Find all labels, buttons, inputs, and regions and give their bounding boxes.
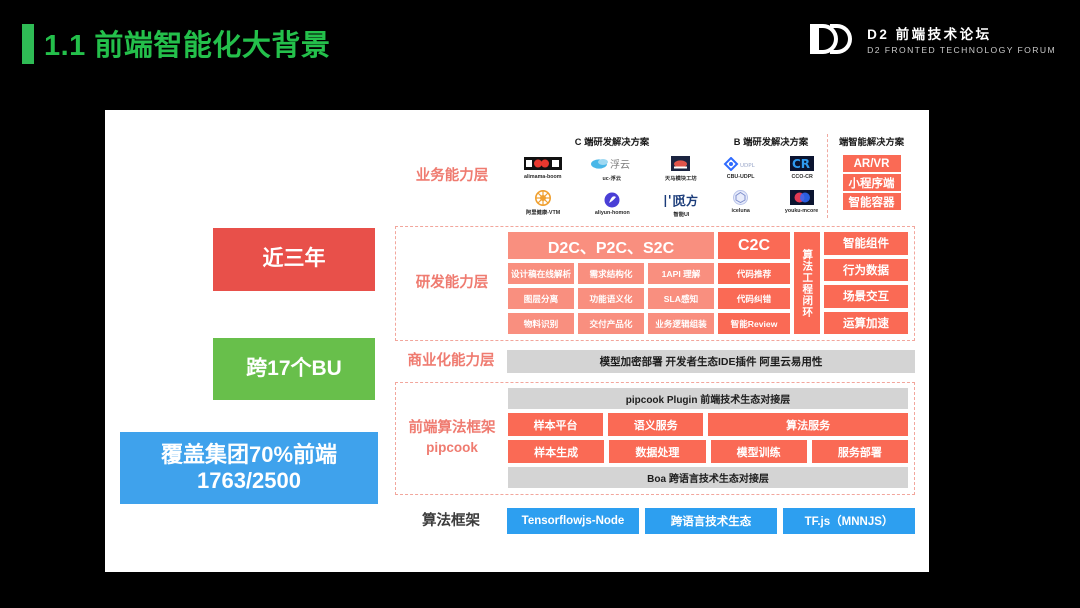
alihealth-vtm-icon <box>535 189 551 206</box>
pipcook-cell[interactable]: 样本生成 <box>508 440 604 463</box>
rd-cell[interactable]: 功能语义化 <box>578 288 644 309</box>
pipcook-cell[interactable]: 模型训练 <box>711 440 807 463</box>
tianma-module-icon <box>671 155 690 172</box>
stat-box-coverage: 覆盖集团70%前端 1763/2500 <box>120 432 378 504</box>
logo-title-cn: D2 前端技术论坛 <box>867 23 1056 43</box>
product-alihealth-vtm[interactable]: 阿里健康-VTM <box>525 189 561 216</box>
smart-ui-icon: |'|觅方 <box>663 191 699 208</box>
pipcook-cell[interactable]: 语义服务 <box>608 413 703 436</box>
rd-cell[interactable]: 交付产品化 <box>578 313 644 334</box>
svg-text:浮云: 浮云 <box>610 159 630 171</box>
rd-cell[interactable]: 业务逻辑组装 <box>648 313 714 334</box>
product-youku-mcore[interactable]: youku-mcore <box>784 189 819 214</box>
rd-cell[interactable]: SLA感知 <box>648 288 714 309</box>
algorithm-cell[interactable]: 跨语言技术生态 <box>645 508 777 534</box>
pipcook-layer: 前端算法框架 pipcook pipcook Plugin 前端技术生态对接层 … <box>395 382 915 495</box>
algorithm-layer-label: 算法框架 <box>422 512 480 530</box>
product-iceluna[interactable]: iceluna <box>731 189 750 214</box>
business-capability-layer: 业务能力层 C 端研发解决方案 alimama-boom <box>395 128 915 224</box>
rd-cell[interactable]: 物料识别 <box>508 313 574 334</box>
algorithm-loop-label: 算法工程闭环 <box>794 232 820 334</box>
algorithm-cell[interactable]: TF.js（MNNJS） <box>783 508 915 534</box>
rd-banner-d2c[interactable]: D2C、P2C、S2C <box>508 232 714 259</box>
c-end-heading: C 端研发解决方案 <box>509 134 715 148</box>
youku-mcore-caption: youku-mcore <box>785 208 818 214</box>
b-end-column: B 端研发解决方案 UDPL CBU-UDPL <box>715 134 827 218</box>
uc-fuyun-icon: 浮云 <box>590 155 634 172</box>
tianma-module-caption: 天马模块工坊 <box>665 174 697 182</box>
pipcook-cell[interactable]: 算法服务 <box>708 413 908 436</box>
product-cbu-udpl[interactable]: UDPL CBU-UDPL <box>723 155 757 180</box>
edge-capability-cell[interactable]: 行为数据 <box>824 259 908 282</box>
alimama-boom-icon <box>524 155 562 172</box>
stat-box-bu: 跨17个BU <box>213 338 375 400</box>
smart-ui-caption: 智能UI <box>673 210 689 218</box>
cco-cr-icon: CR <box>790 155 814 172</box>
logo-cell: 浮云 uc-浮云 aliyun-homon <box>583 155 641 218</box>
edge-badge-arvr[interactable]: AR/VR <box>843 155 901 172</box>
edge-intelligence-column: 端智能解决方案 AR/VR 小程序端 智能容器 <box>827 134 915 218</box>
commercial-layer-label: 商业化能力层 <box>408 352 495 370</box>
pipcook-cell[interactable]: 样本平台 <box>508 413 603 436</box>
product-tianma-module[interactable]: 天马模块工坊 <box>664 155 698 182</box>
alihealth-vtm-caption: 阿里健康-VTM <box>526 208 560 216</box>
logo-cell: alimama-boom 阿里健康-VTM <box>514 155 572 218</box>
svg-text:觅方: 觅方 <box>674 193 698 207</box>
product-aliyun-homon[interactable]: aliyun-homon <box>594 191 631 216</box>
c-end-column: C 端研发解决方案 alimama-boom <box>509 134 715 218</box>
rd-cell[interactable]: 图层分离 <box>508 288 574 309</box>
edge-badge-miniprogram[interactable]: 小程序端 <box>843 174 901 191</box>
edge-capability-cell[interactable]: 场景交互 <box>824 285 908 308</box>
b-end-heading: B 端研发解决方案 <box>715 134 827 148</box>
rd-layer-label: 研发能力层 <box>416 274 489 292</box>
cbu-udpl-caption: CBU-UDPL <box>726 174 754 180</box>
stat-coverage-line1: 覆盖集团70%前端 <box>161 442 337 468</box>
pipcook-cell[interactable]: 数据处理 <box>609 440 705 463</box>
product-alimama-boom[interactable]: alimama-boom <box>523 155 562 180</box>
product-cco-cr[interactable]: CR CCO-CR <box>790 155 814 180</box>
rd-capability-layer: 研发能力层 D2C、P2C、S2C C2C 设计稿在线解析 图层分离 物料识别 <box>395 226 915 341</box>
rd-cell[interactable]: 设计稿在线解析 <box>508 263 574 284</box>
algorithm-framework-layer: 算法框架 Tensorflowjs-Node 跨语言技术生态 TF.js（MNN… <box>395 507 915 535</box>
pipcook-plugin-bar[interactable]: pipcook Plugin 前端技术生态对接层 <box>508 388 908 409</box>
alimama-boom-caption: alimama-boom <box>524 174 562 180</box>
stat-coverage-line2: 1763/2500 <box>161 468 337 494</box>
logo-cell: CR CCO-CR youku-mcore <box>777 155 828 214</box>
architecture-diagram: 业务能力层 C 端研发解决方案 alimama-boom <box>395 128 915 535</box>
c2c-cell[interactable]: 智能Review <box>718 313 790 334</box>
title-accent-bar <box>22 24 34 64</box>
cbu-udpl-icon: UDPL <box>723 155 757 172</box>
edge-capability-cell[interactable]: 运算加速 <box>824 312 908 335</box>
algorithm-cell[interactable]: Tensorflowjs-Node <box>507 508 639 534</box>
pipcook-cell[interactable]: 服务部署 <box>812 440 908 463</box>
product-smart-ui[interactable]: |'|觅方 智能UI <box>663 191 699 218</box>
rd-banner-c2c[interactable]: C2C <box>718 232 790 259</box>
iceluna-icon <box>733 189 748 206</box>
logo-cell: UDPL CBU-UDPL iceluna <box>715 155 766 214</box>
edge-badge-container[interactable]: 智能容器 <box>843 193 901 210</box>
c2c-cell[interactable]: 代码推荐 <box>718 263 790 284</box>
pipcook-name-label: pipcook <box>426 440 478 457</box>
page-title: 1.1 前端智能化大背景 <box>44 22 330 64</box>
business-layer-label: 业务能力层 <box>416 167 489 185</box>
c2c-cell[interactable]: 代码纠错 <box>718 288 790 309</box>
edge-capability-cell[interactable]: 智能组件 <box>824 232 908 255</box>
cco-cr-caption: CCO-CR <box>791 174 812 180</box>
rd-cell[interactable]: 1API 理解 <box>648 263 714 284</box>
brand-logo: D2 前端技术论坛 D2 FRONTED TECHNOLOGY FORUM <box>810 23 1056 55</box>
youku-mcore-icon <box>790 189 814 206</box>
commercial-content-bar[interactable]: 模型加密部署 开发者生态IDE插件 阿里云易用性 <box>507 350 915 373</box>
iceluna-caption: iceluna <box>731 208 749 214</box>
svg-text:CR: CR <box>792 157 810 171</box>
d2-logo-icon <box>810 23 856 55</box>
uc-fuyun-caption: uc-浮云 <box>603 174 622 182</box>
product-uc-fuyun[interactable]: 浮云 uc-浮云 <box>590 155 634 182</box>
aliyun-homon-caption: aliyun-homon <box>595 210 630 216</box>
commercial-capability-layer: 商业化能力层 模型加密部署 开发者生态IDE插件 阿里云易用性 <box>395 348 915 374</box>
stat-box-years: 近三年 <box>213 228 375 291</box>
content-card: 近三年 跨17个BU 覆盖集团70%前端 1763/2500 业务能力层 C 端… <box>105 110 929 572</box>
logo-cell: 天马模块工坊 |'|觅方 智能UI <box>652 155 710 218</box>
rd-cell[interactable]: 需求结构化 <box>578 263 644 284</box>
slide-header: 1.1 前端智能化大背景 D2 前端技术论坛 D2 FRONTED TECHNO… <box>0 0 1080 92</box>
slide-root: 1.1 前端智能化大背景 D2 前端技术论坛 D2 FRONTED TECHNO… <box>0 0 1080 608</box>
edge-heading: 端智能解决方案 <box>828 134 915 148</box>
logo-title-en: D2 FRONTED TECHNOLOGY FORUM <box>867 45 1056 55</box>
pipcook-layer-label: 前端算法框架 <box>409 419 496 437</box>
aliyun-homon-icon <box>604 191 620 208</box>
boa-bar[interactable]: Boa 跨语言技术生态对接层 <box>508 467 908 488</box>
svg-text:UDPL: UDPL <box>740 163 756 169</box>
